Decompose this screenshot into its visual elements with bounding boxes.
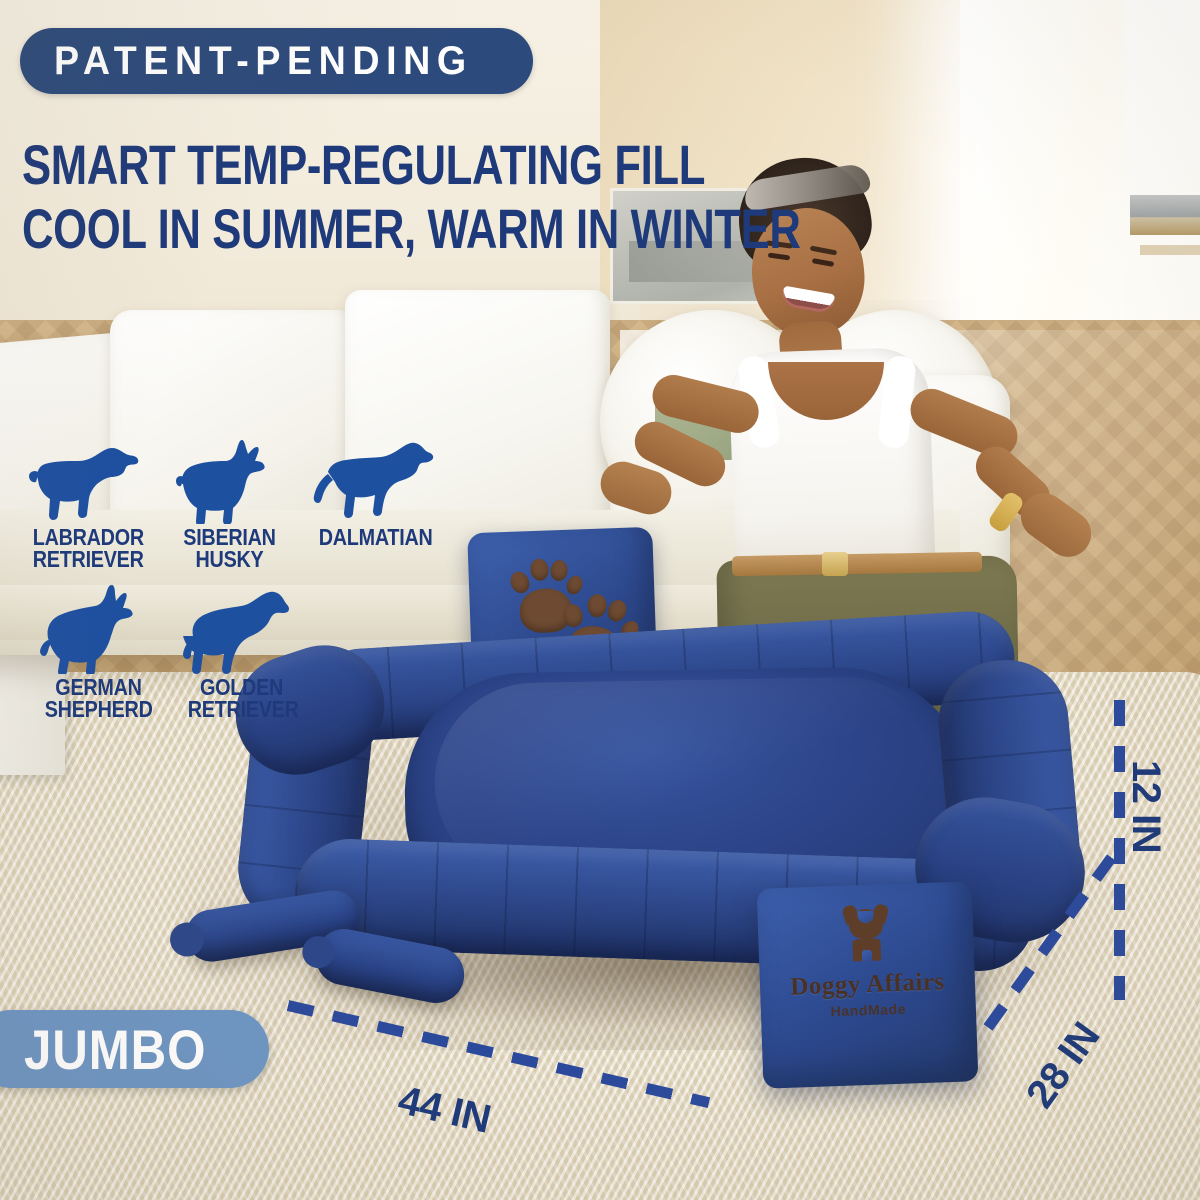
patent-pending-badge: PATENT-PENDING: [20, 28, 533, 94]
breed-compatibility-list: LABRADOR RETRIEVER SIBERIAN HUSKY: [24, 438, 454, 720]
breed-row-1: LABRADOR RETRIEVER SIBERIAN HUSKY: [24, 438, 454, 570]
breed-label-line1: GOLDEN: [188, 676, 296, 698]
headline-line-2: COOL IN SUMMER, WARM IN WINTER: [22, 196, 801, 261]
breed-item-golden-retriever: GOLDEN RETRIEVER: [179, 584, 304, 720]
breed-label-line1: LABRADOR: [33, 526, 141, 548]
size-badge: JUMBO: [0, 1010, 269, 1088]
breed-label-line2: RETRIEVER: [188, 698, 296, 720]
size-badge-label: JUMBO: [24, 1017, 206, 1082]
breed-label-line2: SHEPHERD: [45, 698, 153, 720]
breed-label-line2: RETRIEVER: [33, 548, 141, 570]
dog-golden-retriever-icon: [183, 584, 301, 674]
breed-label-line2: HUSKY: [176, 548, 284, 570]
dog-head-logo-icon: [842, 908, 890, 962]
brand-logo-pillow: Doggy Affairs HandMade: [757, 881, 979, 1088]
headline-line-1: SMART TEMP-REGULATING FILL: [22, 132, 705, 197]
breed-item-dalmatian: DALMATIAN: [310, 438, 435, 570]
model-belt-buckle: [822, 552, 848, 576]
dog-labrador-icon: [28, 438, 146, 524]
brand-name: Doggy Affairs: [760, 967, 976, 1002]
product-marketing-image: Doggy Affairs HandMade 44 IN 28 IN 12 IN…: [0, 0, 1200, 1200]
breed-item-labrador-retriever: LABRADOR RETRIEVER: [24, 438, 149, 570]
dog-dalmatian-icon: [312, 438, 434, 524]
breed-item-siberian-husky: SIBERIAN HUSKY: [167, 438, 292, 570]
breed-item-german-shepherd: GERMAN SHEPHERD: [36, 584, 161, 720]
breed-row-2: GERMAN SHEPHERD GOLDEN RETRIEVER: [36, 584, 454, 720]
brand-tagline: HandMade: [761, 998, 976, 1021]
patent-pending-label: PATENT-PENDING: [54, 39, 473, 84]
window-sill: [1140, 245, 1200, 255]
dimension-label-height: 12 IN: [1123, 760, 1168, 853]
breed-label-line1: GERMAN: [45, 676, 153, 698]
window-frame: [1130, 195, 1200, 235]
dog-german-shepherd-icon: [40, 584, 158, 674]
breed-label-line1: DALMATIAN: [319, 526, 427, 548]
breed-label-line1: SIBERIAN: [176, 526, 284, 548]
dog-husky-icon: [176, 438, 284, 524]
